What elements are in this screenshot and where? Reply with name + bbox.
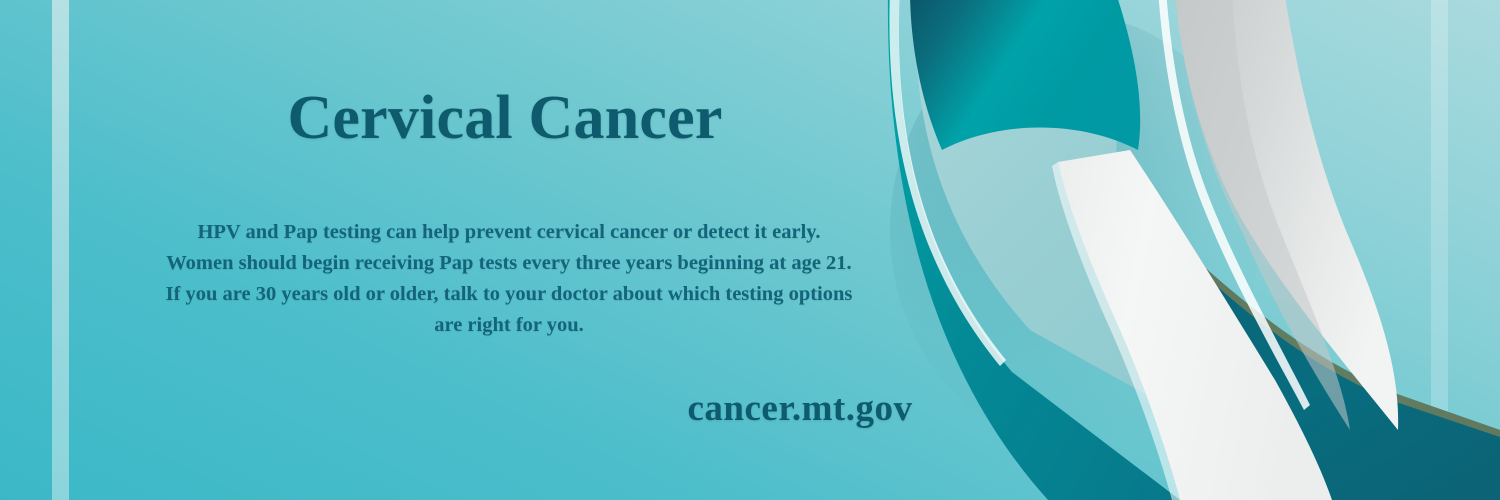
page-title: Cervical Cancer — [0, 86, 1010, 151]
cervical-cancer-awareness-banner: Cervical Cancer HPV and Pap testing can … — [0, 0, 1500, 500]
website-url[interactable]: cancer.mt.gov — [295, 387, 1305, 430]
ribbon-white-loop — [1175, 0, 1398, 430]
ribbon-loop-highlight-rim — [1158, 0, 1310, 410]
text-column: Cervical Cancer HPV and Pap testing can … — [0, 0, 1010, 500]
ribbon-teal-right-tail — [1180, 245, 1500, 500]
body-copy: HPV and Pap testing can help prevent cer… — [163, 217, 855, 342]
ribbon-white-band-edge — [1052, 162, 1180, 500]
right-edge-stripe — [1431, 0, 1448, 500]
ribbon-white-front-band — [1058, 150, 1332, 500]
ribbon-white-loop-shading — [1175, 0, 1350, 430]
